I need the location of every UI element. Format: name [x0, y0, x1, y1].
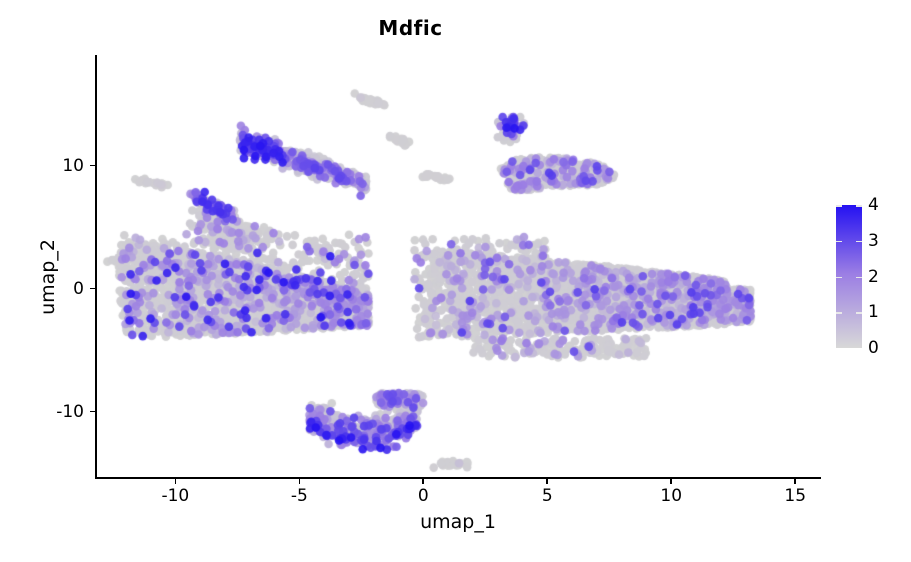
y-tick-label: -10: [56, 402, 84, 422]
x-tick-mark: [794, 479, 796, 484]
y-axis-label: umap_2: [37, 197, 59, 357]
colorbar-tick-label: 3: [868, 231, 879, 251]
y-tick-mark: [90, 411, 95, 413]
x-tick-label: 10: [660, 486, 682, 506]
y-tick-label: 0: [73, 279, 84, 299]
colorbar-tick-mark: [836, 312, 842, 314]
colorbar-tick-label: 1: [868, 302, 879, 322]
x-axis-label: umap_1: [96, 511, 820, 533]
page-title: Mdfic: [0, 16, 866, 40]
axis-spine-left: [95, 55, 97, 479]
colorbar-tick-mark: [856, 241, 862, 243]
plot-axes-area: [96, 55, 820, 478]
x-tick-label: 0: [418, 486, 429, 506]
colorbar: 01234: [836, 205, 862, 348]
x-tick-mark: [546, 479, 548, 484]
y-tick-mark: [90, 288, 95, 290]
umap-feature-plot: Mdfic -10-5051015 100-10 umap_1 umap_2 0…: [0, 0, 911, 562]
colorbar-tick-mark: [836, 241, 842, 243]
y-tick-label: 10: [62, 156, 84, 176]
colorbar-tick-mark: [856, 312, 862, 314]
colorbar-tick-mark: [836, 277, 842, 279]
x-tick-label: 15: [784, 486, 806, 506]
x-tick-label: -5: [291, 486, 308, 506]
colorbar-tick-mark: [856, 277, 862, 279]
colorbar-tick-mark: [856, 205, 862, 207]
x-tick-mark: [422, 479, 424, 484]
x-tick-label: -10: [161, 486, 189, 506]
scatter-points-layer: [96, 55, 820, 478]
colorbar-tick-label: 2: [868, 267, 879, 287]
x-tick-label: 5: [542, 486, 553, 506]
x-tick-mark: [175, 479, 177, 484]
colorbar-tick-mark: [836, 205, 842, 207]
colorbar-tick-label: 0: [868, 338, 879, 358]
y-tick-mark: [90, 165, 95, 167]
x-tick-mark: [299, 479, 301, 484]
x-tick-mark: [670, 479, 672, 484]
axis-spine-bottom: [95, 477, 821, 479]
colorbar-tick-label: 4: [868, 195, 879, 215]
